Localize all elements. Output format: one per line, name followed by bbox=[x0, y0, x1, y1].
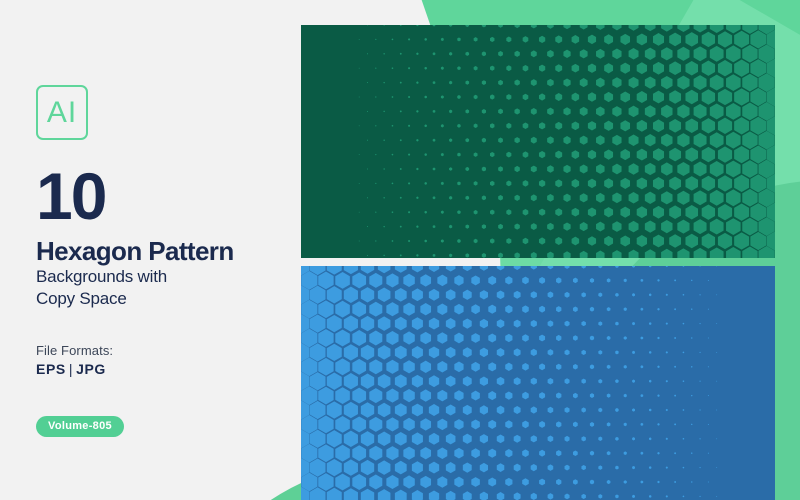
green-hexagon-panel bbox=[301, 25, 775, 258]
file-format-jpg: JPG bbox=[76, 361, 106, 377]
pack-count: 10 bbox=[36, 163, 105, 229]
blue-hexagon-panel bbox=[301, 266, 775, 500]
volume-badge: Volume-805 bbox=[36, 416, 124, 437]
page-subtitle: Backgrounds with Copy Space bbox=[36, 266, 167, 310]
poster-canvas: AI 10 Hexagon Pattern Backgrounds with C… bbox=[0, 0, 800, 500]
blue-hexagon-pattern bbox=[301, 266, 775, 500]
file-format-eps: EPS bbox=[36, 361, 66, 377]
adobe-illustrator-badge: AI bbox=[36, 85, 88, 140]
page-title: Hexagon Pattern bbox=[36, 238, 234, 265]
info-column: AI 10 Hexagon Pattern Backgrounds with C… bbox=[36, 0, 286, 500]
file-formats-value: EPS|JPG bbox=[36, 361, 106, 377]
adobe-illustrator-badge-label: AI bbox=[47, 98, 77, 128]
file-formats-label: File Formats: bbox=[36, 343, 113, 358]
page-subtitle-line-1: Backgrounds with bbox=[36, 266, 167, 288]
file-format-separator: | bbox=[66, 361, 76, 377]
green-hexagon-pattern bbox=[301, 25, 775, 258]
page-subtitle-line-2: Copy Space bbox=[36, 288, 167, 310]
